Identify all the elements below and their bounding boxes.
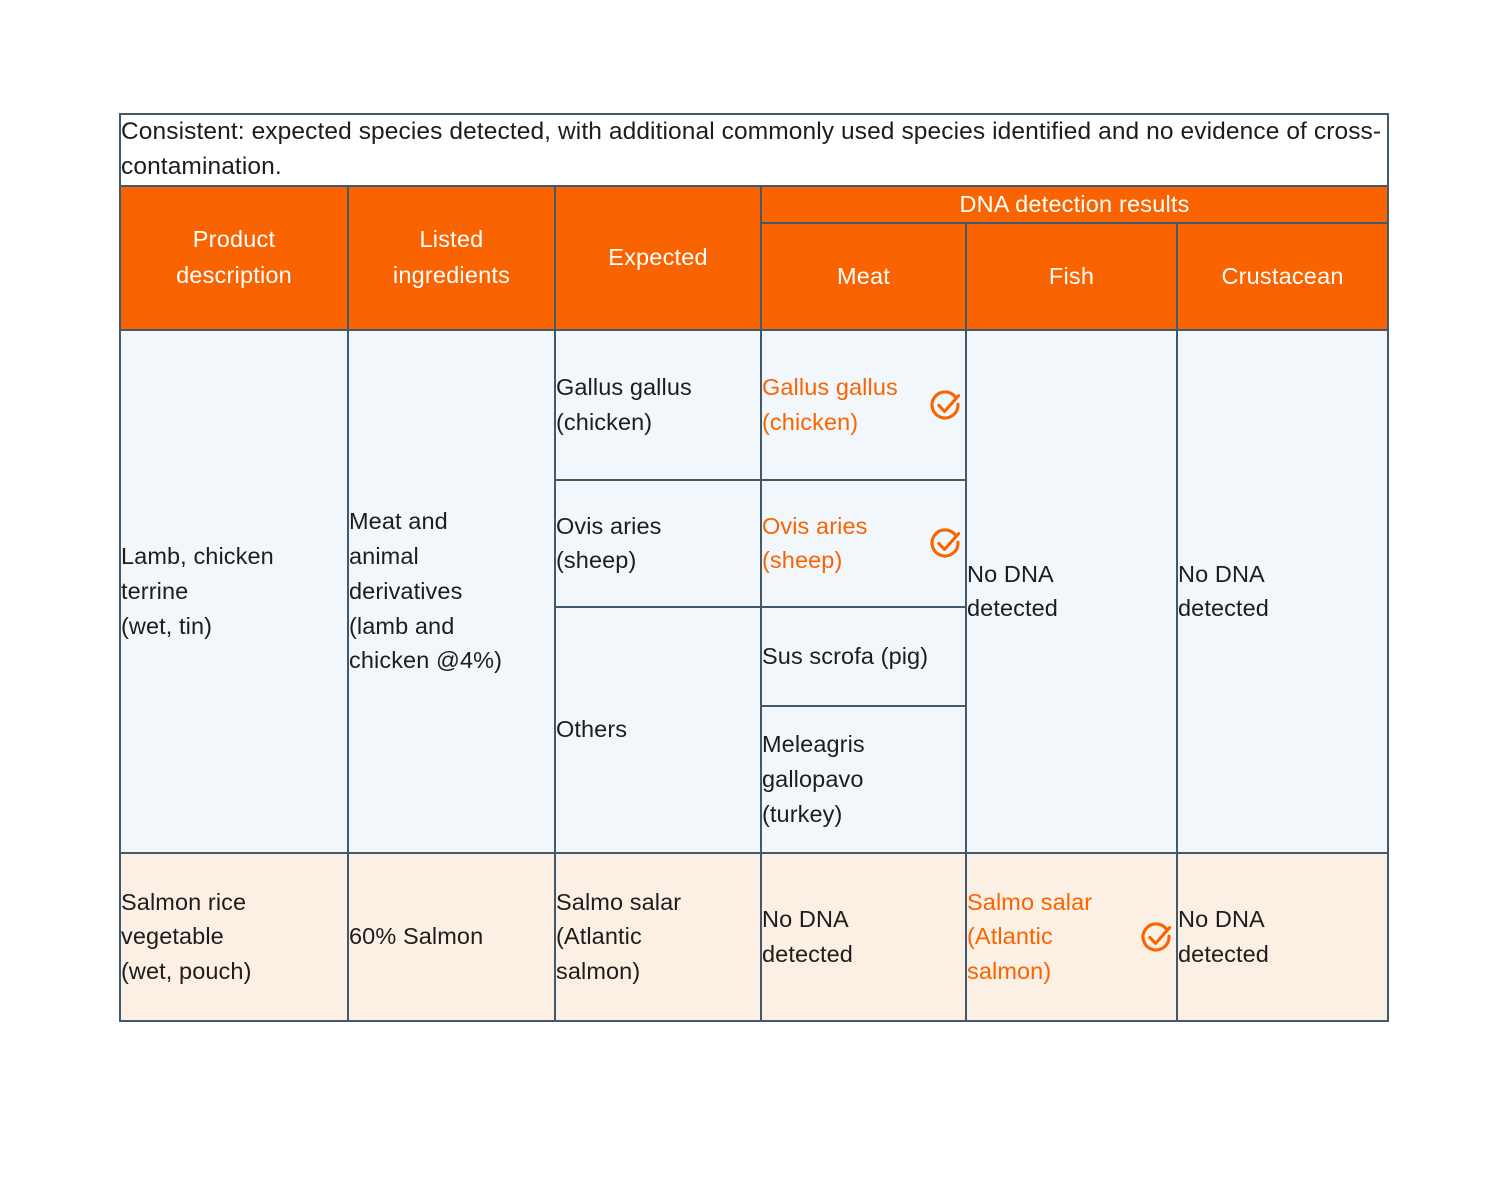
header-listed-ingredients-line2: ingredients — [349, 258, 554, 293]
cell-listed-ingredients: 60% Salmon — [348, 853, 555, 1021]
listed-ingredients-line: (lamb and — [349, 609, 554, 644]
cell-expected-species: Salmo salar (Atlantic salmon) — [555, 853, 761, 1021]
dna-detection-results-table: Consistent: expected species detected, w… — [119, 113, 1389, 1022]
crustacean-result-line: No DNA — [1178, 902, 1387, 937]
check-circle-icon — [927, 386, 965, 424]
cell-meat-result: Ovis aries (sheep) — [761, 480, 966, 607]
fish-result-line: No DNA — [967, 557, 1176, 592]
listed-ingredients-line: chicken @4%) — [349, 643, 554, 678]
caption-text: Consistent: expected species detected, w… — [121, 115, 1387, 185]
expected-species-line: Gallus gallus — [556, 370, 760, 405]
meat-result-line: Gallus gallus — [762, 370, 917, 405]
listed-ingredients-line: Meat and — [349, 504, 554, 539]
meat-result-line: (sheep) — [762, 543, 917, 578]
crustacean-result-line: detected — [1178, 591, 1387, 626]
cell-product-description: Salmon rice vegetable (wet, pouch) — [120, 853, 348, 1021]
meat-result-line: No DNA — [762, 902, 965, 937]
cell-listed-ingredients: Meat and animal derivatives (lamb and ch… — [348, 330, 555, 853]
cell-product-description: Lamb, chicken terrine (wet, tin) — [120, 330, 348, 853]
expected-species-line: (Atlantic — [556, 919, 760, 954]
header-listed-ingredients: Listed ingredients — [348, 186, 555, 330]
caption-cell: Consistent: expected species detected, w… — [120, 114, 1388, 186]
table-caption-row: Consistent: expected species detected, w… — [120, 114, 1388, 186]
cell-crustacean-result: No DNA detected — [1177, 330, 1388, 853]
cell-expected-others: Others — [555, 607, 761, 853]
header-expected: Expected — [555, 186, 761, 330]
meat-result-line: Sus scrofa (pig) — [762, 639, 965, 674]
cell-meat-result: Meleagris gallopavo (turkey) — [761, 706, 966, 853]
cell-expected-species: Ovis aries (sheep) — [555, 480, 761, 607]
product-description-line: terrine — [121, 574, 347, 609]
expected-species-line: Ovis aries — [556, 509, 760, 544]
cell-fish-result: Salmo salar (Atlantic salmon) — [966, 853, 1177, 1021]
header-product-description-line1: Product — [121, 222, 347, 257]
expected-species-line: Salmo salar — [556, 885, 760, 920]
fish-result-line: Salmo salar — [967, 885, 1128, 920]
fish-result-line: salmon) — [967, 954, 1128, 989]
check-circle-icon — [1138, 918, 1176, 956]
header-listed-ingredients-line1: Listed — [349, 222, 554, 257]
product-description-line: vegetable — [121, 919, 347, 954]
product-description-line: Lamb, chicken — [121, 539, 347, 574]
cell-meat-result: No DNA detected — [761, 853, 966, 1021]
header-row-primary: Product description Listed ingredients E… — [120, 186, 1388, 223]
expected-species-line: Others — [556, 712, 760, 747]
listed-ingredients-line: 60% Salmon — [349, 919, 554, 954]
product-description-line: (wet, tin) — [121, 609, 347, 644]
page-root: Consistent: expected species detected, w… — [0, 0, 1504, 1200]
cell-fish-result: No DNA detected — [966, 330, 1177, 853]
fish-result-line: (Atlantic — [967, 919, 1128, 954]
product-description-line: (wet, pouch) — [121, 954, 347, 989]
header-dna-detection-results-label: DNA detection results — [762, 187, 1387, 222]
meat-result-line: (chicken) — [762, 405, 917, 440]
crustacean-result-line: detected — [1178, 937, 1387, 972]
crustacean-result-line: No DNA — [1178, 557, 1387, 592]
meat-result-line: gallopavo — [762, 762, 965, 797]
header-crustacean-label: Crustacean — [1178, 259, 1387, 294]
table-row: Salmon rice vegetable (wet, pouch) 60% S… — [120, 853, 1388, 1021]
expected-species-line: salmon) — [556, 954, 760, 989]
cell-meat-result: Gallus gallus (chicken) — [761, 330, 966, 480]
header-fish-label: Fish — [967, 259, 1176, 294]
header-meat: Meat — [761, 223, 966, 330]
header-dna-detection-results: DNA detection results — [761, 186, 1388, 223]
expected-species-line: (chicken) — [556, 405, 760, 440]
header-crustacean: Crustacean — [1177, 223, 1388, 330]
meat-result-line: Meleagris — [762, 727, 965, 762]
header-product-description-line2: description — [121, 258, 347, 293]
listed-ingredients-line: animal — [349, 539, 554, 574]
listed-ingredients-line: derivatives — [349, 574, 554, 609]
header-expected-label: Expected — [556, 240, 760, 275]
cell-expected-species: Gallus gallus (chicken) — [555, 330, 761, 480]
cell-crustacean-result: No DNA detected — [1177, 853, 1388, 1021]
fish-result-line: detected — [967, 591, 1176, 626]
meat-result-line: (turkey) — [762, 797, 965, 832]
check-circle-icon — [927, 524, 965, 562]
header-product-description: Product description — [120, 186, 348, 330]
product-description-line: Salmon rice — [121, 885, 347, 920]
table-row: Lamb, chicken terrine (wet, tin) Meat an… — [120, 330, 1388, 480]
meat-result-line: Ovis aries — [762, 509, 917, 544]
meat-result-line: detected — [762, 937, 965, 972]
expected-species-line: (sheep) — [556, 543, 760, 578]
header-meat-label: Meat — [762, 259, 965, 294]
cell-meat-result: Sus scrofa (pig) — [761, 607, 966, 706]
header-fish: Fish — [966, 223, 1177, 330]
